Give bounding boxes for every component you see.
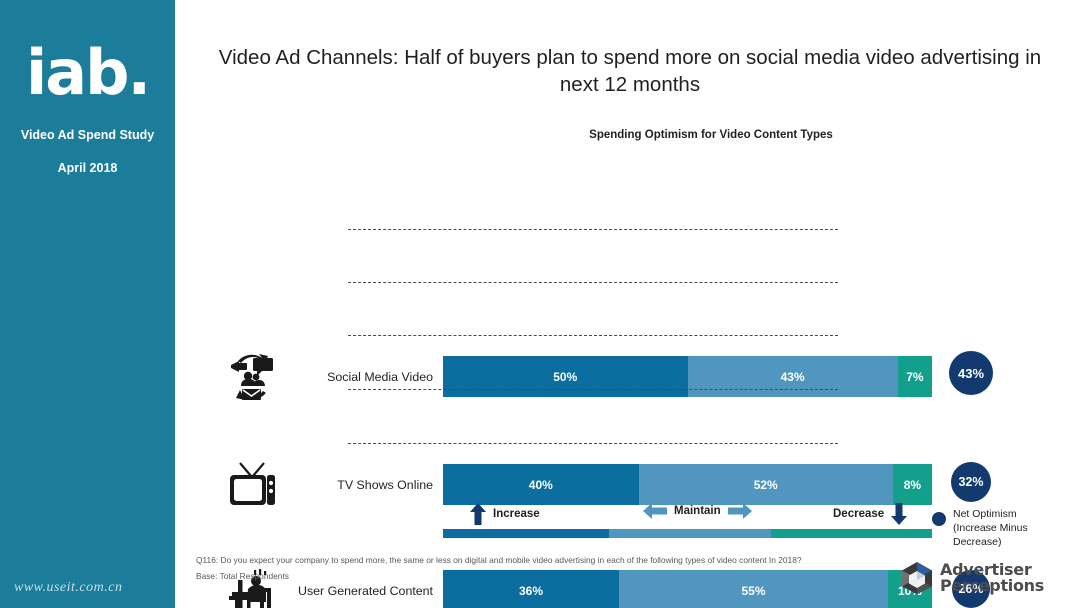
net-optimism-legend-label: Net Optimism (Increase Minus Decrease)	[953, 507, 1073, 550]
net-optimism-legend-dot	[932, 512, 946, 526]
row-divider	[348, 443, 838, 444]
advertiser-perceptions-logo: Advertiser Perceptions	[900, 561, 1044, 595]
legend-maintain: Maintain	[643, 503, 752, 519]
arrow-down-icon	[891, 503, 907, 525]
row-divider	[348, 335, 838, 336]
advertiser-perceptions-name: Advertiser Perceptions	[940, 562, 1044, 594]
row-divider	[348, 229, 838, 230]
arrow-left-icon	[643, 503, 667, 519]
bar-tv-shows-online: 40% 52% 8%	[443, 464, 932, 505]
net-label-line1: Net Optimism	[953, 507, 1073, 521]
bar-social-media-video: 50% 43% 7%	[443, 356, 932, 397]
slide-canvas: iab. Video Ad Spend Study April 2018 www…	[0, 0, 1080, 608]
segment-maintain: 52%	[639, 464, 893, 505]
ap-line-2: Perceptions	[940, 578, 1044, 594]
legend-color-decrease	[771, 529, 932, 538]
legend-color-maintain	[609, 529, 770, 538]
net-optimism-circle: 32%	[951, 462, 991, 502]
segment-decrease: 7%	[898, 356, 932, 397]
footnote-question: Q116: Do you expect your company to spen…	[196, 555, 802, 565]
net-optimism-circle: 43%	[949, 351, 993, 395]
segment-increase: 50%	[443, 356, 688, 397]
segment-maintain: 43%	[688, 356, 898, 397]
legend-color-increase	[443, 529, 609, 538]
legend-increase-label: Increase	[493, 508, 540, 520]
net-label-line3: Decrease)	[953, 535, 1073, 549]
row-label: Social Media Video	[280, 350, 433, 403]
tv-shows-online-icon	[222, 458, 282, 511]
net-label-line2: (Increase Minus	[953, 521, 1073, 535]
arrow-right-icon	[728, 503, 752, 519]
footnote-base: Base: Total Respondents	[196, 570, 836, 582]
legend-decrease: Decrease	[833, 503, 907, 525]
segment-decrease: 8%	[893, 464, 932, 505]
row-divider	[348, 389, 838, 390]
social-media-video-icon	[222, 350, 282, 403]
stacked-bar-chart: Social Media Video 50% 43% 7% 43%	[0, 0, 1080, 608]
legend-maintain-label: Maintain	[674, 505, 721, 517]
legend-color-bar	[443, 529, 932, 538]
arrow-up-icon	[470, 503, 486, 525]
footnote: Q116: Do you expect your company to spen…	[196, 554, 836, 582]
legend-increase: Increase	[470, 503, 540, 525]
row-label: TV Shows Online	[280, 458, 433, 511]
legend-decrease-label: Decrease	[833, 508, 884, 520]
row-divider	[348, 282, 838, 283]
segment-increase: 40%	[443, 464, 639, 505]
hexagon-logo-icon	[900, 561, 934, 595]
